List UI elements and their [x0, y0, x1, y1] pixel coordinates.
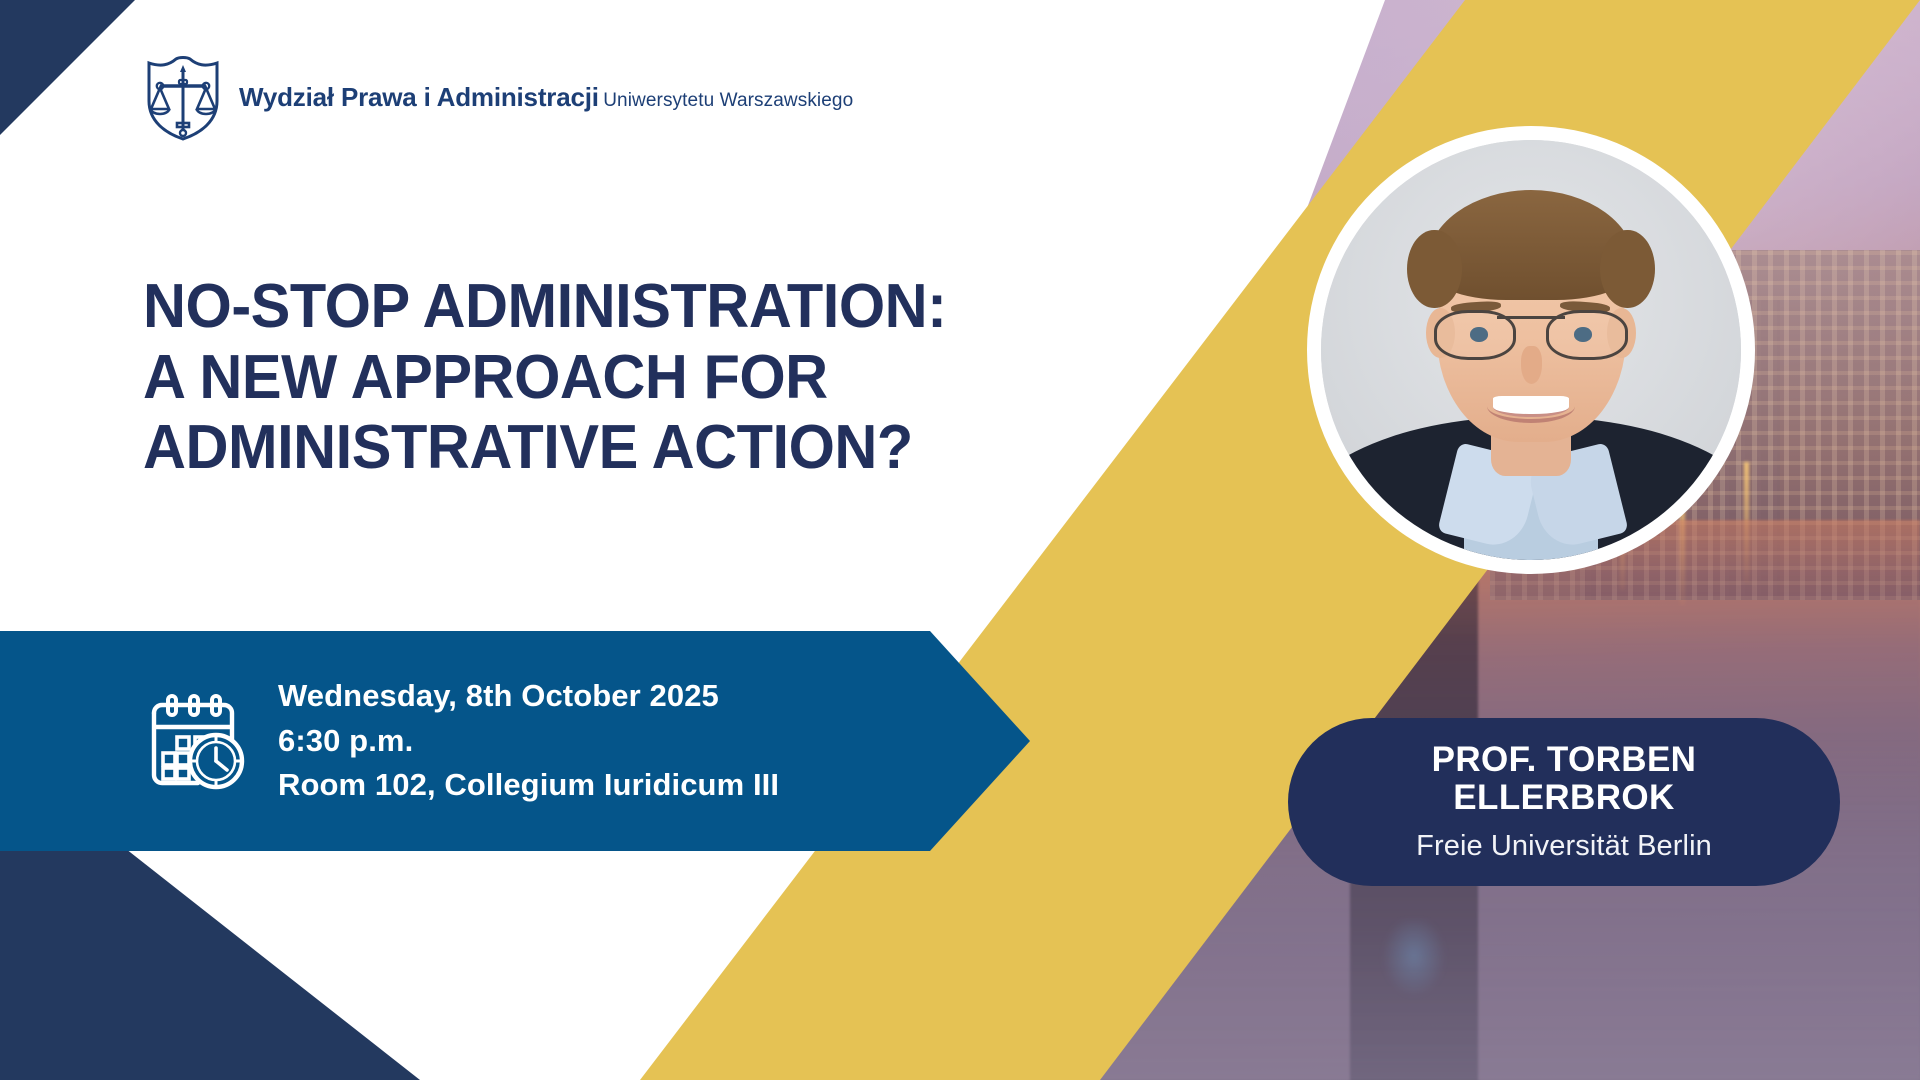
logo-university-name: Uniwersytetu Warszawskiego — [603, 90, 853, 111]
page-title: NO-STOP ADMINISTRATION: A NEW APPROACH F… — [143, 272, 947, 484]
event-details-text: Wednesday, 8th October 2025 6:30 p.m. Ro… — [278, 674, 779, 809]
speaker-affiliation: Freie Universität Berlin — [1416, 830, 1712, 863]
title-line-2: A NEW APPROACH FOR — [143, 343, 947, 414]
speaker-name-line-1: PROF. TORBEN — [1432, 741, 1697, 779]
scales-of-justice-shield-icon — [143, 55, 223, 141]
event-poster: Wydział Prawa i Administracji Uniwersyte… — [0, 0, 1920, 1080]
title-line-1: NO-STOP ADMINISTRATION: — [143, 272, 947, 343]
event-date: Wednesday, 8th October 2025 — [278, 674, 779, 719]
calendar-clock-icon — [136, 689, 256, 793]
logo-faculty-name: Wydział Prawa i Administracji — [239, 82, 599, 112]
faculty-logo: Wydział Prawa i Administracji Uniwersyte… — [143, 55, 853, 141]
speaker-name: PROF. TORBEN ELLERBROK — [1432, 741, 1697, 817]
avatar — [1307, 126, 1755, 574]
speaker-name-badge: PROF. TORBEN ELLERBROK Freie Universität… — [1288, 718, 1840, 886]
title-line-3: ADMINISTRATIVE ACTION? — [143, 413, 947, 484]
speaker-name-line-2: ELLERBROK — [1432, 779, 1697, 817]
event-details-banner: Wednesday, 8th October 2025 6:30 p.m. Ro… — [0, 631, 1030, 851]
speaker-portrait-photo — [1321, 140, 1741, 560]
event-location: Room 102, Collegium Iuridicum III — [278, 763, 779, 808]
event-time: 6:30 p.m. — [278, 719, 779, 764]
